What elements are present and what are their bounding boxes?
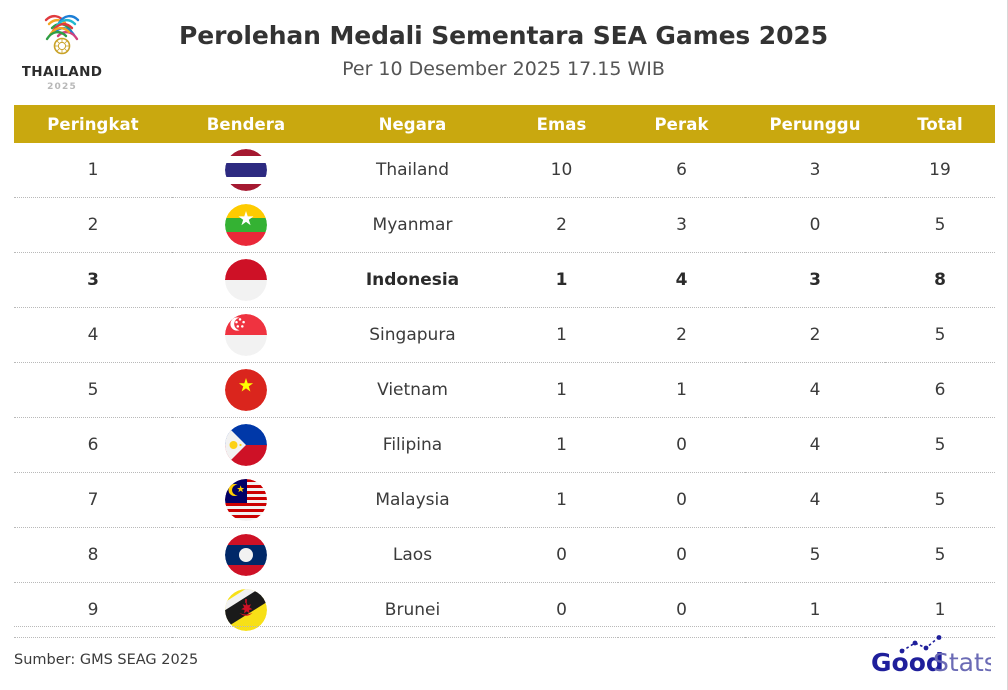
cell-rank: 1 xyxy=(14,143,172,198)
table-row: 7Malaysia1045 xyxy=(14,473,995,528)
cell-gold: 1 xyxy=(505,308,618,363)
cell-total: 5 xyxy=(885,473,995,528)
flag-brunei-icon xyxy=(225,589,267,631)
cell-country: Indonesia xyxy=(320,253,505,308)
cell-flag xyxy=(172,418,320,473)
cell-bronze: 0 xyxy=(745,198,885,253)
cell-rank: 2 xyxy=(14,198,172,253)
cell-flag xyxy=(172,308,320,363)
column-header-negara: Negara xyxy=(320,105,505,143)
cell-flag xyxy=(172,363,320,418)
cell-country: Malaysia xyxy=(320,473,505,528)
flag-laos-icon xyxy=(225,534,267,576)
cell-country: Filipina xyxy=(320,418,505,473)
table-header: Peringkat Bendera Negara Emas Perak Peru… xyxy=(14,105,995,143)
cell-silver: 2 xyxy=(618,308,745,363)
cell-gold: 0 xyxy=(505,528,618,583)
table-body: 1Thailand1063192Myanmar23053Indonesia143… xyxy=(14,143,995,638)
brand-secondary-text: Stats xyxy=(933,648,991,677)
cell-silver: 0 xyxy=(618,418,745,473)
table-header-row: Peringkat Bendera Negara Emas Perak Peru… xyxy=(14,105,995,143)
cell-flag xyxy=(172,528,320,583)
flag-philippines-icon xyxy=(225,424,267,466)
cell-gold: 2 xyxy=(505,198,618,253)
flag-thailand-icon xyxy=(225,149,267,191)
sea-games-thailand-2025-logo: THAILAND 2025 xyxy=(22,8,102,94)
cell-bronze: 5 xyxy=(745,528,885,583)
cell-rank: 8 xyxy=(14,528,172,583)
column-header-perak: Perak xyxy=(618,105,745,143)
flag-indonesia-icon xyxy=(225,259,267,301)
table-row: 4Singapura1225 xyxy=(14,308,995,363)
medal-standings-table: Peringkat Bendera Negara Emas Perak Peru… xyxy=(14,105,995,638)
cell-silver: 0 xyxy=(618,473,745,528)
page-title: Perolehan Medali Sementara SEA Games 202… xyxy=(0,22,1007,51)
cell-silver: 4 xyxy=(618,253,745,308)
column-header-total: Total xyxy=(885,105,995,143)
cell-total: 5 xyxy=(885,418,995,473)
cell-country: Thailand xyxy=(320,143,505,198)
cell-total: 6 xyxy=(885,363,995,418)
cell-country: Singapura xyxy=(320,308,505,363)
table-row: 5Vietnam1146 xyxy=(14,363,995,418)
logo-year-text: 2025 xyxy=(47,82,77,92)
cell-rank: 3 xyxy=(14,253,172,308)
footer: Sumber: GMS SEAG 2025 Good Stats xyxy=(14,626,995,690)
cell-bronze: 3 xyxy=(745,143,885,198)
cell-gold: 1 xyxy=(505,253,618,308)
goodstats-logo: Good Stats xyxy=(869,635,991,681)
cell-country: Laos xyxy=(320,528,505,583)
source-label: Sumber: GMS SEAG 2025 xyxy=(14,652,198,668)
cell-gold: 1 xyxy=(505,418,618,473)
logo-country-text: THAILAND xyxy=(22,64,102,80)
cell-flag xyxy=(172,253,320,308)
header: THAILAND 2025 Perolehan Medali Sementara… xyxy=(0,0,1007,104)
cell-country: Vietnam xyxy=(320,363,505,418)
cell-bronze: 2 xyxy=(745,308,885,363)
title-block: Perolehan Medali Sementara SEA Games 202… xyxy=(0,0,1007,81)
cell-gold: 10 xyxy=(505,143,618,198)
cell-bronze: 4 xyxy=(745,473,885,528)
flag-myanmar-icon xyxy=(225,204,267,246)
cell-bronze: 3 xyxy=(745,253,885,308)
table-row: 8Laos0055 xyxy=(14,528,995,583)
cell-total: 5 xyxy=(885,308,995,363)
cell-silver: 3 xyxy=(618,198,745,253)
page-subtitle: Per 10 Desember 2025 17.15 WIB xyxy=(0,59,1007,81)
cell-rank: 7 xyxy=(14,473,172,528)
cell-silver: 1 xyxy=(618,363,745,418)
table-row: 2Myanmar2305 xyxy=(14,198,995,253)
cell-flag xyxy=(172,198,320,253)
medal-table-container: Peringkat Bendera Negara Emas Perak Peru… xyxy=(14,105,995,638)
cell-flag xyxy=(172,143,320,198)
cell-gold: 1 xyxy=(505,473,618,528)
table-row: 6Filipina1045 xyxy=(14,418,995,473)
cell-silver: 0 xyxy=(618,528,745,583)
cell-silver: 6 xyxy=(618,143,745,198)
column-header-bendera: Bendera xyxy=(172,105,320,143)
flag-singapore-icon xyxy=(225,314,267,356)
cell-gold: 1 xyxy=(505,363,618,418)
cell-rank: 6 xyxy=(14,418,172,473)
cell-total: 19 xyxy=(885,143,995,198)
table-row: 3Indonesia1438 xyxy=(14,253,995,308)
column-header-peringkat: Peringkat xyxy=(14,105,172,143)
cell-rank: 4 xyxy=(14,308,172,363)
flag-malaysia-icon xyxy=(225,479,267,521)
cell-total: 8 xyxy=(885,253,995,308)
cell-country: Myanmar xyxy=(320,198,505,253)
medal-standings-infographic: THAILAND 2025 Perolehan Medali Sementara… xyxy=(0,0,1008,690)
flag-vietnam-icon xyxy=(225,369,267,411)
cell-flag xyxy=(172,473,320,528)
cell-total: 5 xyxy=(885,528,995,583)
column-header-emas: Emas xyxy=(505,105,618,143)
table-row: 1Thailand106319 xyxy=(14,143,995,198)
column-header-perunggu: Perunggu xyxy=(745,105,885,143)
cell-rank: 5 xyxy=(14,363,172,418)
cell-total: 5 xyxy=(885,198,995,253)
cell-bronze: 4 xyxy=(745,363,885,418)
cell-bronze: 4 xyxy=(745,418,885,473)
